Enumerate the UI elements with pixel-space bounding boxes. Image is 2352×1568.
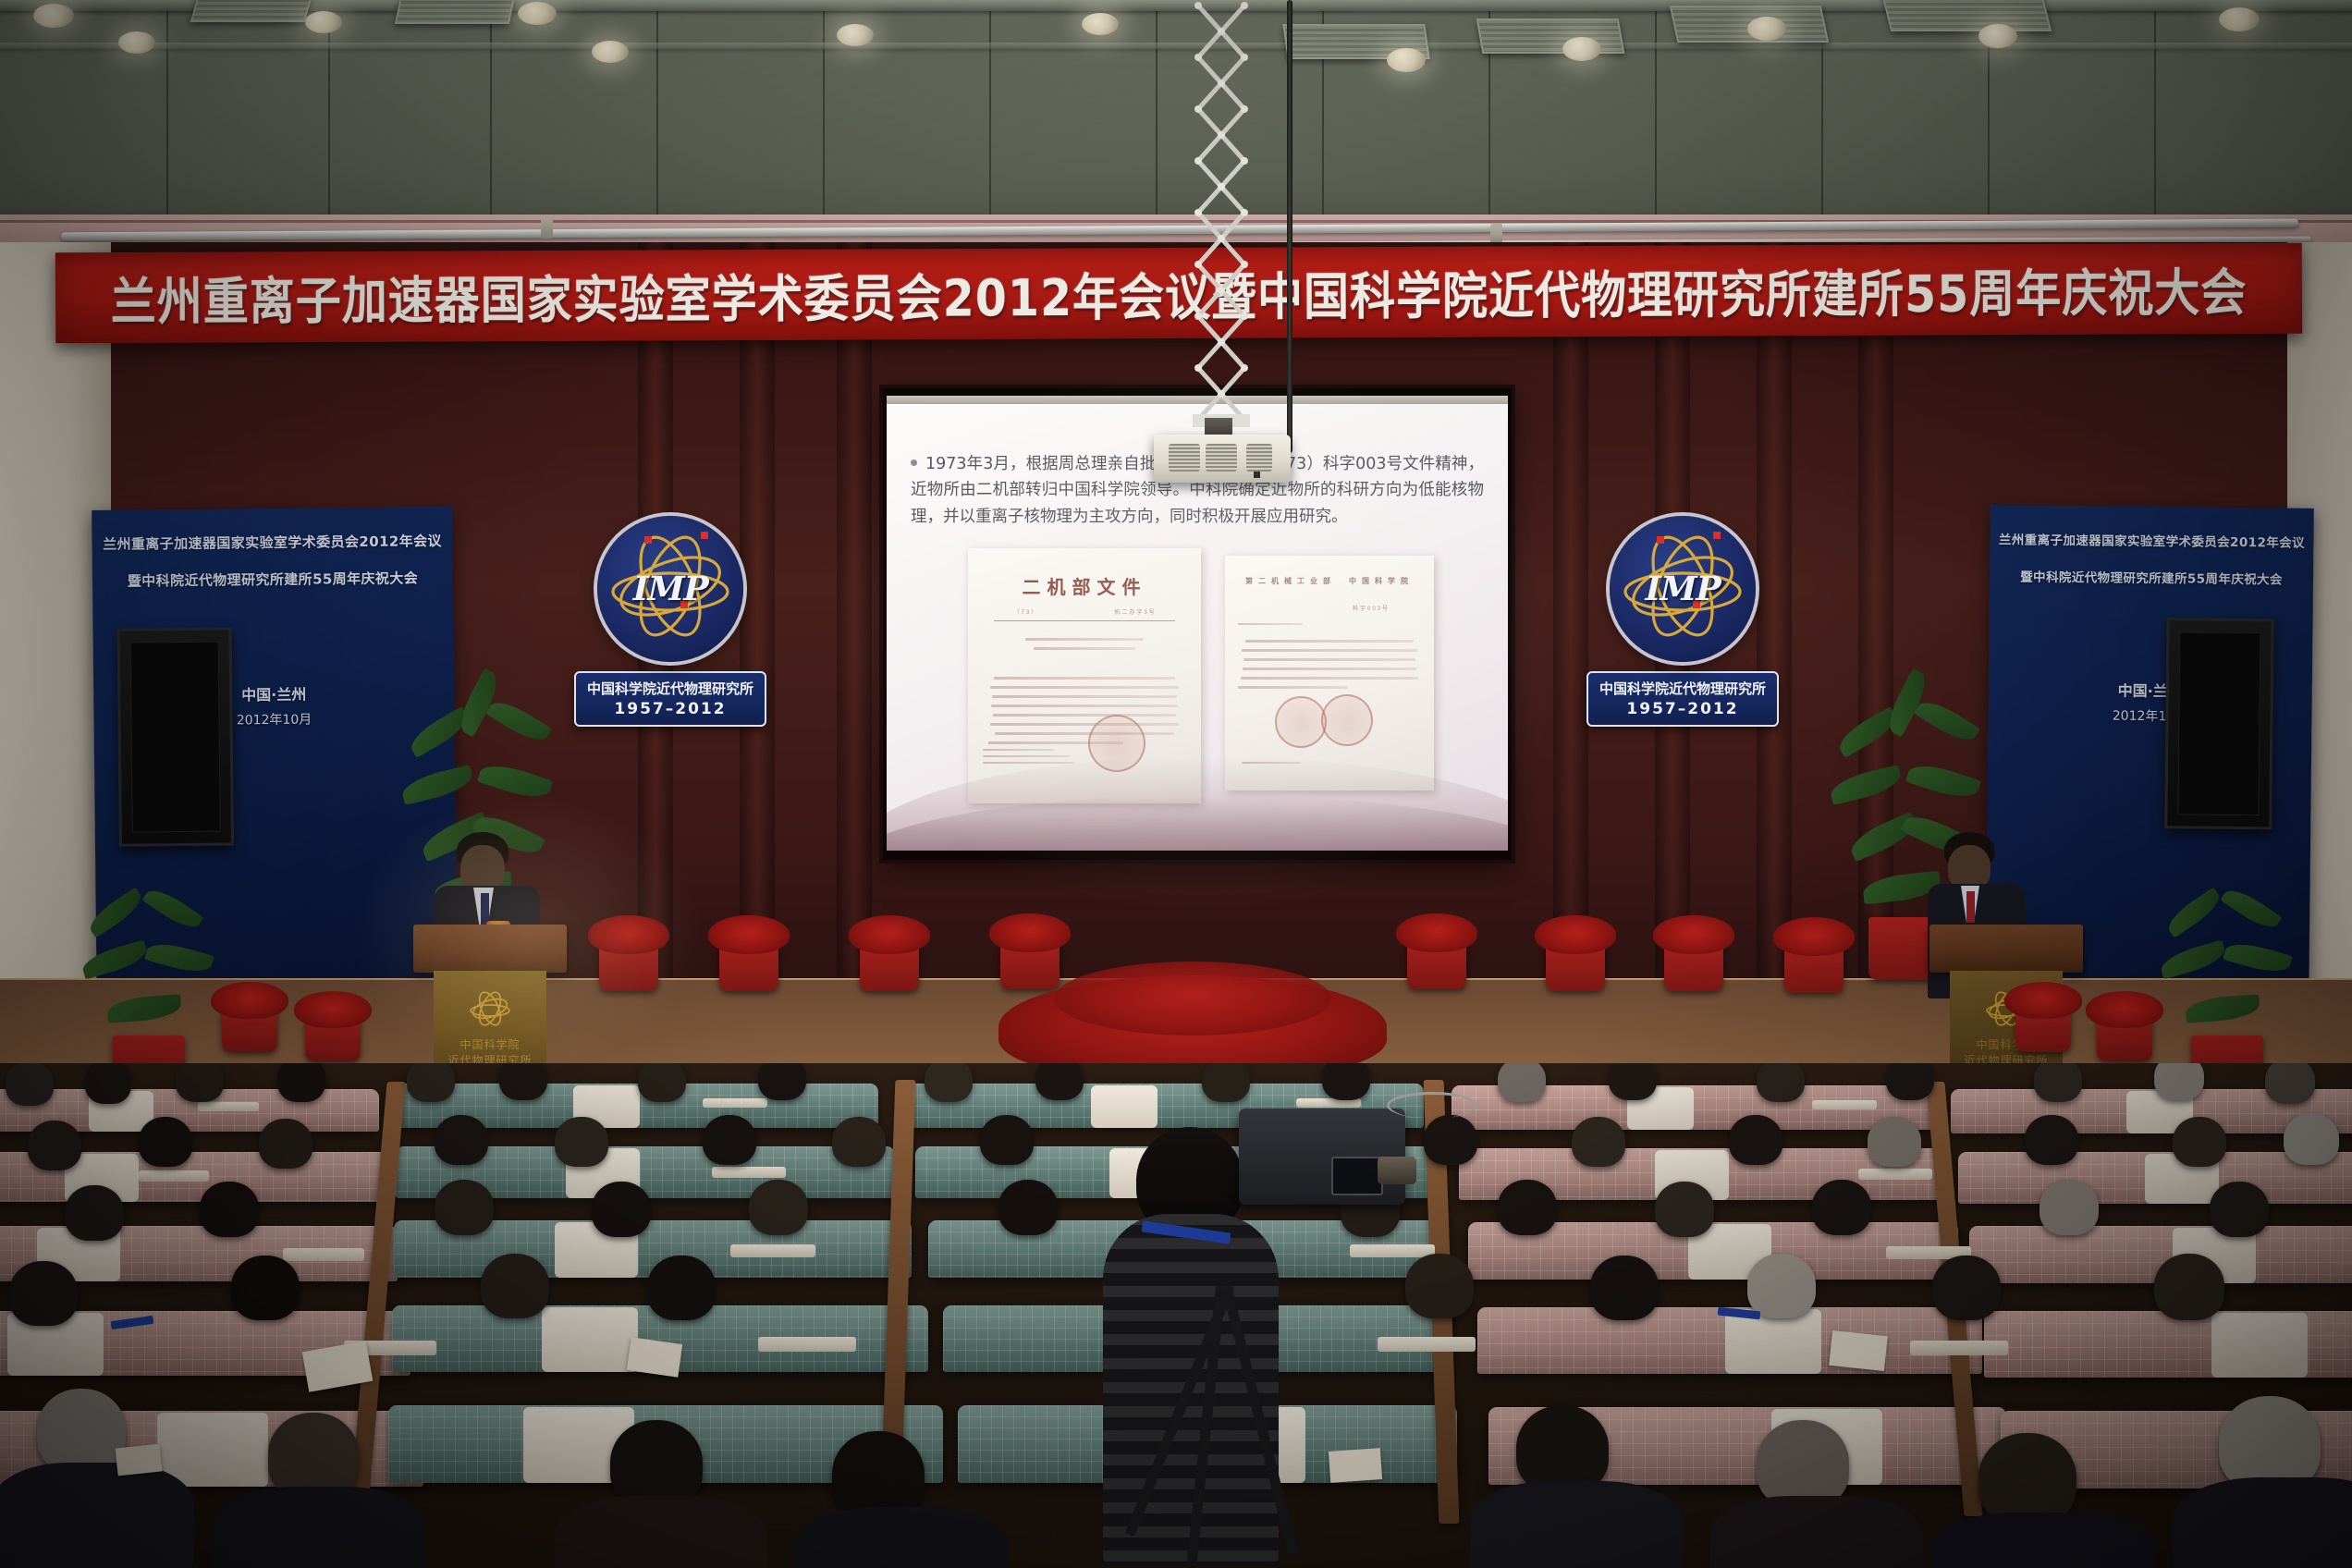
podium-top-surface	[1929, 925, 2083, 973]
video-camera[interactable]	[1239, 1109, 1405, 1205]
seat-tablet	[283, 1248, 364, 1261]
imp-plaque-left-line1: 中国科学院近代物理研究所	[587, 679, 753, 698]
audience-head	[499, 1063, 547, 1100]
audience-shoulders	[555, 1496, 767, 1568]
main-banner-text: 兰州重离子加速器国家实验室学术委员会2012年会议暨中国科学院近代物理研究所建所…	[111, 251, 2248, 335]
imp-logo-right: IMP 中国科学院近代物理研究所 1957–2012	[1586, 516, 1780, 727]
slide-document-right-subtitle-right: 科字003号	[1327, 604, 1415, 612]
ceiling-light	[837, 24, 874, 46]
audience-head	[925, 1063, 973, 1102]
ceiling-light	[1747, 17, 1786, 41]
red-official-seal	[1275, 696, 1327, 748]
podium-left-line1: 中国科学院	[459, 1038, 520, 1051]
seat-tablet	[712, 1167, 786, 1178]
seat-tablet	[198, 1102, 259, 1111]
pa-loudspeaker-right	[2164, 618, 2273, 829]
side-banner-right-line1: 兰州重离子加速器国家实验室学术委员会2012年会议	[1990, 529, 2313, 551]
ceiling-light	[305, 11, 342, 33]
slide-document-left-subtitle-left: （73）	[994, 607, 1059, 616]
audience-head	[37, 1389, 126, 1474]
imp-plaque-left: 中国科学院近代物理研究所 1957–2012	[574, 671, 766, 727]
audience-head	[28, 1121, 81, 1170]
audience-head	[592, 1182, 651, 1237]
audience-head	[2284, 1113, 2339, 1165]
audience-head	[1932, 1256, 2001, 1320]
audience-head	[435, 1115, 488, 1165]
audience-head	[1812, 1180, 1871, 1235]
handout-paper[interactable]	[627, 1337, 682, 1377]
ceiling-light	[33, 4, 74, 28]
audience-shoulders	[213, 1487, 425, 1568]
seat-tablet	[1812, 1100, 1877, 1109]
slide-document-left-title: 二机部文件	[968, 572, 1201, 599]
imp-wordmark-left: IMP	[594, 570, 748, 608]
seat-cap	[542, 1307, 638, 1372]
audience-head	[555, 1117, 608, 1167]
audience-head	[1322, 1063, 1370, 1100]
audience-head	[435, 1180, 494, 1235]
projector-cable	[1287, 0, 1292, 453]
audience-head	[1035, 1063, 1084, 1100]
stage-front-flower-bed	[1054, 962, 1331, 1035]
bullet-point-icon	[911, 459, 917, 466]
imp-atom-mark-right: IMP	[1610, 516, 1756, 662]
scissor-lift-icon	[1193, 0, 1250, 436]
ceiling-light	[1978, 24, 2017, 48]
audience-head	[139, 1117, 192, 1167]
seat-tablet	[1858, 1169, 1932, 1180]
ceiling-light	[1387, 48, 1426, 72]
ceiling-light	[518, 2, 557, 25]
ceiling-light	[592, 41, 629, 63]
seat-tablet	[703, 1098, 767, 1108]
seat-cap	[2211, 1313, 2308, 1378]
audience-head	[2154, 1254, 2224, 1320]
audience-head	[1655, 1182, 1714, 1237]
audience-head	[758, 1063, 806, 1100]
audience-head	[2025, 1115, 2078, 1165]
audience-head	[1202, 1063, 1250, 1102]
pa-loudspeaker-left	[116, 627, 233, 846]
audience-head	[407, 1063, 455, 1102]
audience-head	[1572, 1117, 1625, 1167]
audience-head	[1424, 1115, 1477, 1165]
audience-head	[176, 1063, 224, 1102]
audience-head	[200, 1182, 259, 1237]
ceiling-projector	[1154, 435, 1291, 483]
slide-document-right-title: 第二机械工业部 中国科学院	[1225, 576, 1434, 586]
handout-paper[interactable]	[1829, 1330, 1888, 1371]
audience-head	[980, 1115, 1034, 1165]
audience-head	[1609, 1063, 1657, 1100]
seat-tablet	[1350, 1244, 1435, 1257]
audience-head	[85, 1063, 131, 1104]
seat-tablet	[1910, 1341, 2008, 1355]
audience-head	[1886, 1063, 1934, 1100]
audience-head	[638, 1063, 686, 1102]
audience-head	[2040, 1180, 2099, 1235]
ceiling-light	[118, 31, 155, 54]
audience-head	[1498, 1063, 1546, 1102]
podium-top-surface	[413, 925, 567, 973]
audience-head	[277, 1063, 325, 1102]
audience-head	[1590, 1256, 1659, 1320]
audience-shoulders	[1710, 1496, 1923, 1568]
side-banner-left-line1: 兰州重离子加速器国家实验室学术委员会2012年会议	[92, 531, 452, 554]
imp-plaque-left-line2: 1957–2012	[587, 700, 753, 718]
audience-shoulders	[2173, 1477, 2352, 1568]
imp-logo-left: IMP 中国科学院近代物理研究所 1957–2012	[573, 516, 767, 727]
audience-shoulders	[795, 1507, 1008, 1568]
audience-head	[832, 1117, 886, 1167]
ceiling-light	[1082, 13, 1119, 35]
side-banner-left-line2: 暨中科院近代物理研究所建所55周年庆祝大会	[92, 568, 453, 591]
audience-head	[2210, 1182, 2269, 1237]
seat-tablet	[139, 1170, 209, 1182]
handout-paper[interactable]	[116, 1444, 163, 1476]
camera-lcd-screen	[1331, 1157, 1383, 1195]
audience-head	[6, 1063, 54, 1106]
audience-head	[2173, 1117, 2226, 1167]
red-official-seal	[1321, 694, 1373, 746]
imp-plaque-right-line1: 中国科学院近代物理研究所	[1599, 679, 1766, 698]
imp-plaque-right: 中国科学院近代物理研究所 1957–2012	[1586, 671, 1779, 727]
audience-head	[1498, 1180, 1557, 1235]
audience-head	[9, 1261, 78, 1326]
imp-plaque-right-line2: 1957–2012	[1599, 700, 1766, 718]
audience-shoulders	[1470, 1481, 1683, 1568]
audience-head	[1868, 1117, 1921, 1167]
conference-hall-photo: 兰州重离子加速器国家实验室学术委员会2012年会议暨中国科学院近代物理研究所建所…	[0, 0, 2352, 1568]
seat-tablet	[730, 1244, 815, 1257]
audience-head	[1978, 1433, 2076, 1525]
audience-head	[2154, 1063, 2204, 1100]
ceiling-light	[2219, 7, 2260, 31]
cameraman	[1086, 1105, 1294, 1567]
audience-head	[703, 1115, 756, 1165]
seat-tablet	[758, 1337, 856, 1352]
audience-head	[1757, 1063, 1805, 1102]
audience-shoulders	[0, 1463, 194, 1568]
audience-head	[2034, 1063, 2082, 1102]
slide-document-left-subtitle-right: 机二办字3号	[1084, 607, 1186, 616]
audience-head	[65, 1185, 124, 1241]
ceiling	[0, 0, 2352, 245]
imp-wordmark-right: IMP	[1606, 570, 1760, 608]
ceiling-light	[1562, 37, 1601, 61]
audience-head	[1405, 1254, 1474, 1318]
audience-head	[2265, 1063, 2315, 1104]
audience-shoulders	[1932, 1513, 2154, 1568]
side-banner-right-line2: 暨中科院近代物理研究所建所55周年庆祝大会	[1990, 566, 2313, 588]
seat-tablet	[1378, 1337, 1476, 1352]
audience-head	[1729, 1115, 1782, 1165]
audience-head	[647, 1256, 716, 1320]
main-event-banner: 兰州重离子加速器国家实验室学术委员会2012年会议暨中国科学院近代物理研究所建所…	[55, 243, 2302, 344]
audience-head	[1747, 1254, 1816, 1318]
audience-head	[231, 1256, 300, 1320]
projector-scissor-lift	[1193, 0, 1250, 436]
audience-head	[749, 1180, 808, 1235]
camera-lens	[1378, 1157, 1416, 1184]
handout-paper[interactable]	[1329, 1448, 1382, 1483]
imp-atom-mark-left: IMP	[597, 516, 743, 662]
seat-cap	[1725, 1309, 1821, 1374]
camera-microphone-icon	[1387, 1092, 1477, 1119]
podium-imp-logo	[464, 989, 516, 1028]
slide-document-right: 第二机械工业部 中国科学院 科字003号	[1225, 556, 1434, 790]
audience-head	[259, 1119, 312, 1169]
audience-head	[481, 1254, 549, 1318]
audience-head	[998, 1180, 1058, 1235]
